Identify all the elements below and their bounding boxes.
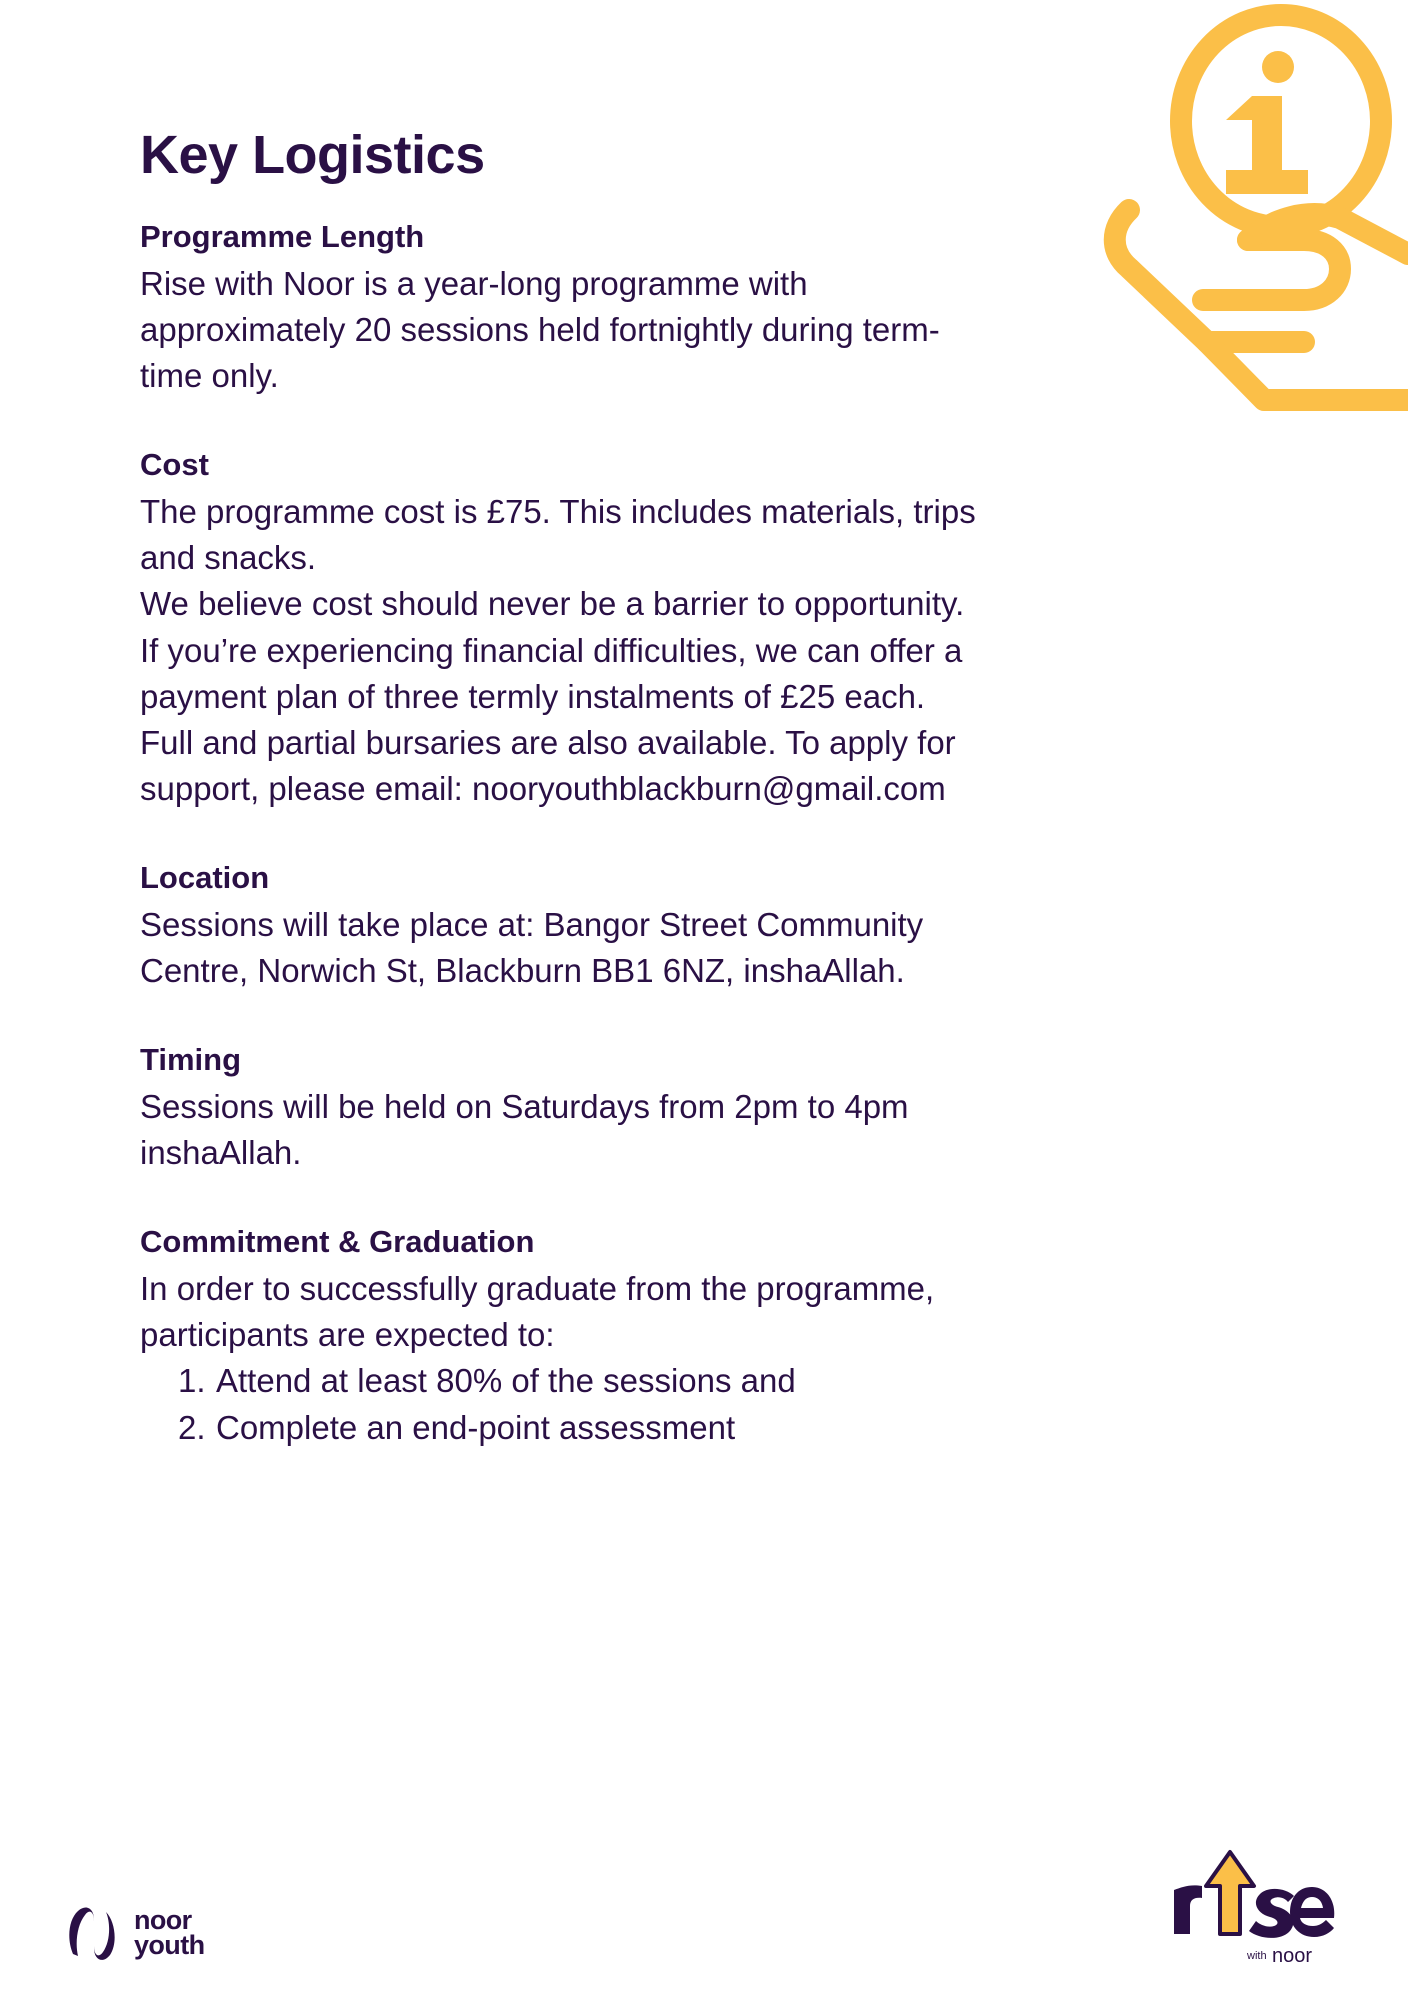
text-line: time only. xyxy=(140,353,1255,399)
noor-youth-logo: noor youth xyxy=(66,1902,205,1964)
rise-tagline-with: with xyxy=(1246,1950,1267,1962)
noor-youth-line2: youth xyxy=(134,1933,205,1958)
section-heading-location: Location xyxy=(140,858,1255,898)
graduation-requirements-list: 1. Attend at least 80% of the sessions a… xyxy=(140,1358,1255,1452)
section-timing: Timing Sessions will be held on Saturday… xyxy=(140,1040,1255,1176)
page-title: Key Logistics xyxy=(140,128,1414,183)
section-body-commitment-graduation: In order to successfully graduate from t… xyxy=(140,1266,1255,1358)
text-line: We believe cost should never be a barrie… xyxy=(140,581,1255,627)
section-heading-timing: Timing xyxy=(140,1040,1255,1080)
text-line: payment plan of three termly instalments… xyxy=(140,674,1255,720)
text-line: Full and partial bursaries are also avai… xyxy=(140,720,1255,766)
section-commitment-graduation: Commitment & Graduation In order to succ… xyxy=(140,1222,1255,1452)
text-line: approximately 20 sessions held fortnight… xyxy=(140,307,1255,353)
section-heading-cost: Cost xyxy=(140,445,1255,485)
section-heading-commitment-graduation: Commitment & Graduation xyxy=(140,1222,1255,1262)
section-body-location: Sessions will take place at: Bangor Stre… xyxy=(140,902,1255,994)
section-body-cost: The programme cost is £75. This includes… xyxy=(140,489,1255,812)
section-cost: Cost The programme cost is £75. This inc… xyxy=(140,445,1255,812)
text-line: Sessions will be held on Saturdays from … xyxy=(140,1084,1255,1130)
list-item-text: Complete an end-point assessment xyxy=(216,1405,735,1452)
list-marker: 1. xyxy=(178,1358,216,1405)
noor-youth-wordmark: noor youth xyxy=(134,1908,205,1958)
text-line: and snacks. xyxy=(140,535,1255,581)
section-programme-length: Programme Length Rise with Noor is a yea… xyxy=(140,217,1255,399)
list-item: 2. Complete an end-point assessment xyxy=(140,1405,1255,1452)
text-line: Rise with Noor is a year-long programme … xyxy=(140,261,1255,307)
document-page: Key Logistics Programme Length Rise with… xyxy=(0,0,1414,2000)
text-line: If you’re experiencing financial difficu… xyxy=(140,628,1255,674)
noor-youth-mark-icon xyxy=(66,1902,122,1964)
list-marker: 2. xyxy=(178,1405,216,1452)
text-line: inshaAllah. xyxy=(140,1130,1255,1176)
rise-tagline-noor: noor xyxy=(1272,1945,1312,1967)
text-line: participants are expected to: xyxy=(140,1312,1255,1358)
text-line: Sessions will take place at: Bangor Stre… xyxy=(140,902,1255,948)
text-line: Centre, Norwich St, Blackburn BB1 6NZ, i… xyxy=(140,948,1255,994)
list-item: 1. Attend at least 80% of the sessions a… xyxy=(140,1358,1255,1405)
list-item-text: Attend at least 80% of the sessions and xyxy=(216,1358,796,1405)
text-line: In order to successfully graduate from t… xyxy=(140,1266,1255,1312)
section-location: Location Sessions will take place at: Ba… xyxy=(140,858,1255,994)
footer: noor youth with noor xyxy=(0,1800,1414,2000)
section-heading-programme-length: Programme Length xyxy=(140,217,1255,257)
contact-email-line: support, please email: nooryouthblackbur… xyxy=(140,766,1255,812)
section-body-timing: Sessions will be held on Saturdays from … xyxy=(140,1084,1255,1176)
rise-with-noor-logo: with noor xyxy=(1144,1838,1344,1978)
text-line: The programme cost is £75. This includes… xyxy=(140,489,1255,535)
section-body-programme-length: Rise with Noor is a year-long programme … xyxy=(140,261,1255,400)
